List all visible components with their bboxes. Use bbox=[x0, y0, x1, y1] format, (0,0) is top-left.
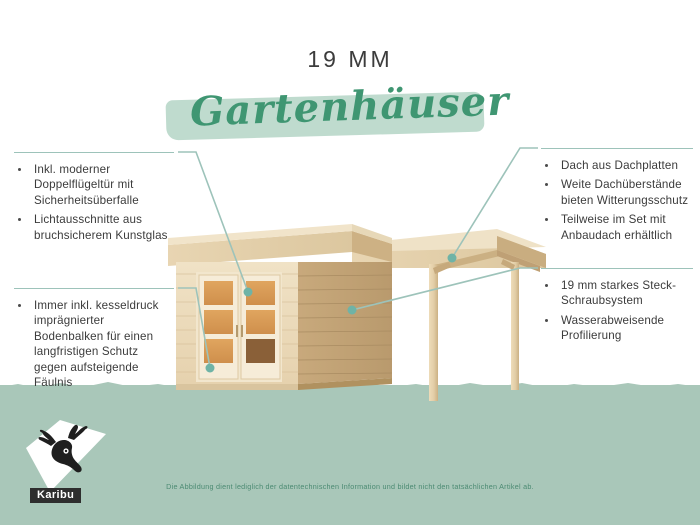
product-title-wrap: Gartenhäuser bbox=[180, 83, 519, 130]
glass-pane bbox=[204, 339, 233, 363]
thickness-label: 19 MM bbox=[0, 48, 700, 71]
list-item: Wasserabweisende Profilierung bbox=[541, 313, 693, 344]
callout-left-top: Inkl. moderner Doppelflügeltür mit Siche… bbox=[14, 152, 174, 247]
feature-list-right-bottom: 19 mm starkes Steck-Schraubsystem Wasser… bbox=[541, 278, 693, 344]
disclaimer-text: Die Abbildung dient lediglich der datent… bbox=[0, 482, 700, 491]
door-handle-left bbox=[236, 325, 238, 337]
list-item: Dach aus Dachplatten bbox=[541, 158, 693, 173]
canopy-post-front bbox=[429, 264, 438, 401]
callout-right-top: Dach aus Dachplatten Weite Dachüberständ… bbox=[541, 148, 693, 247]
glass-pane bbox=[246, 310, 275, 334]
glass-pane bbox=[204, 310, 233, 334]
glass-pane bbox=[246, 339, 275, 363]
list-item: 19 mm starkes Steck-Schraubsystem bbox=[541, 278, 693, 309]
callout-left-bottom: Immer inkl. kesseldruck imprägnierter Bo… bbox=[14, 288, 174, 394]
feature-list-left-bottom: Immer inkl. kesseldruck imprägnierter Bo… bbox=[14, 298, 174, 390]
list-item: Weite Dachüberstände bieten Witterungssc… bbox=[541, 177, 693, 208]
callout-rule bbox=[14, 288, 174, 289]
callout-rule bbox=[541, 268, 693, 269]
deer-pupil-icon bbox=[65, 450, 67, 452]
list-item: Teilweise im Set mit Anbaudach erhältlic… bbox=[541, 212, 693, 243]
list-item: Lichtausschnitte aus bruchsicherem Kunst… bbox=[14, 212, 174, 243]
door-handle-right bbox=[241, 325, 243, 337]
headline-block: 19 MM Gartenhäuser bbox=[0, 48, 700, 130]
poster: 19 MM Gartenhäuser Inkl. moderner Doppel… bbox=[0, 0, 700, 525]
callout-rule bbox=[541, 148, 693, 149]
callout-rule bbox=[14, 152, 174, 153]
feature-list-left-top: Inkl. moderner Doppelflügeltür mit Siche… bbox=[14, 162, 174, 243]
canopy-post-back bbox=[511, 262, 519, 390]
list-item: Immer inkl. kesseldruck imprägnierter Bo… bbox=[14, 298, 174, 390]
feature-list-right-top: Dach aus Dachplatten Weite Dachüberständ… bbox=[541, 158, 693, 243]
callout-right-bottom: 19 mm starkes Steck-Schraubsystem Wasser… bbox=[541, 268, 693, 348]
house-side-wall bbox=[298, 262, 392, 384]
glass-pane bbox=[204, 281, 233, 305]
glass-pane bbox=[246, 281, 275, 305]
floor-beam-front bbox=[176, 384, 298, 390]
list-item: Inkl. moderner Doppelflügeltür mit Siche… bbox=[14, 162, 174, 208]
